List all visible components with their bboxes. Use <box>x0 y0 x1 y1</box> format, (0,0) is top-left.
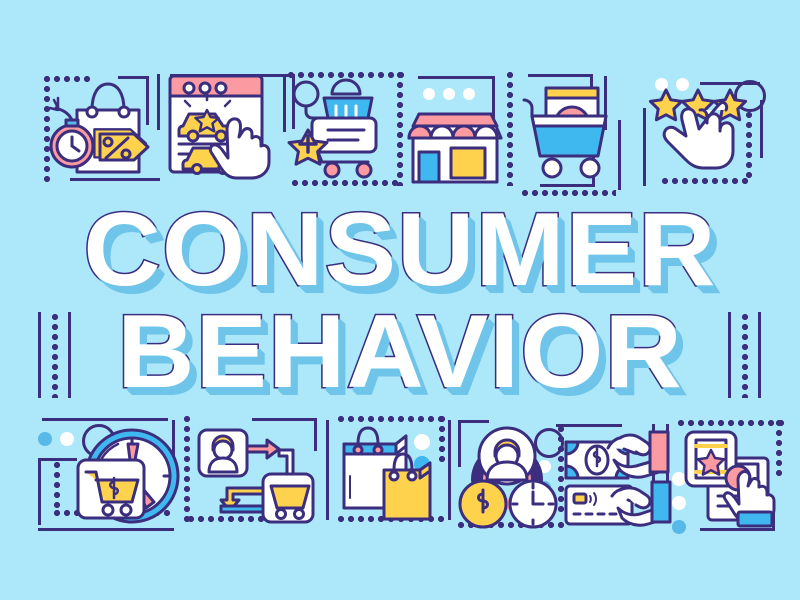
deco-hline-bot-left <box>42 418 168 421</box>
page-title-line-1: CONSUMER <box>0 198 800 302</box>
deco-vline-top-b <box>283 74 286 132</box>
deco-vline-top-f <box>760 100 763 158</box>
deco-dot-row-top-mid2 <box>290 178 400 188</box>
icon-shopping-cart-product <box>518 74 622 180</box>
icon-star-rating-hand <box>648 82 752 182</box>
icon-review-feedback <box>682 424 786 528</box>
icon-shopping-cart-wishlist <box>288 72 396 178</box>
consumer-behavior-banner: CONSUMER BEHAVIOR <box>0 0 800 600</box>
icon-compass-cart-price <box>68 424 186 532</box>
deco-line-top-left-base <box>70 178 160 181</box>
deco-vline-bot-b <box>326 420 329 520</box>
icon-customer-journey-flow <box>195 420 317 528</box>
deco-vline-bot-c <box>448 420 451 520</box>
icon-customer-money-time <box>455 424 561 530</box>
deco-dot-row-bot-b <box>336 414 446 424</box>
icon-shopping-bags <box>336 424 442 528</box>
deco-circle-bot-b1 <box>38 432 52 446</box>
deco-vline-top-e <box>643 108 646 186</box>
icon-cash-card-payment <box>562 420 672 528</box>
page-title-line-2: BEHAVIOR <box>0 300 800 404</box>
icon-storefront <box>403 82 507 184</box>
deco-dot-col-bot-left <box>52 460 62 512</box>
icon-browser-car-rating <box>165 70 277 178</box>
icon-shopping-bag-timer-discount <box>42 68 162 178</box>
